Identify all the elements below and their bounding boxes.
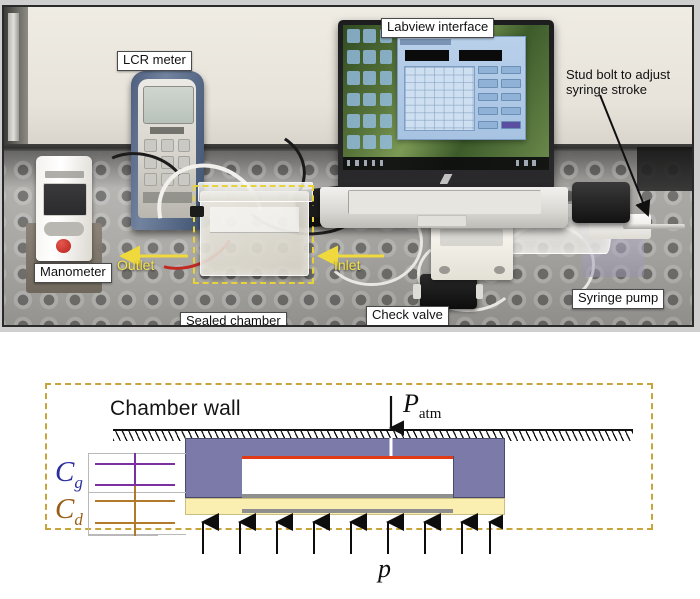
layer-top-electrode	[242, 456, 453, 459]
cg-symbol: C	[55, 456, 74, 488]
desktop-icon	[363, 50, 376, 64]
labview-control	[478, 79, 498, 87]
applied-pressure-arrows	[185, 510, 503, 560]
layer-air-gap-cavity	[242, 456, 453, 497]
desktop-icon	[347, 135, 360, 149]
clamp-slot	[440, 229, 503, 246]
cd-subscript: d	[74, 510, 83, 529]
desktop-icon	[363, 29, 376, 43]
laptop-trackpad	[417, 215, 467, 227]
label-stud-bolt: Stud bolt to adjust syringe stroke	[561, 67, 694, 99]
syringe-pump-clamp	[431, 223, 514, 280]
patm-symbol: P	[403, 389, 419, 418]
sensor-cross-section-diagram: Chamber wall Cg Cd Patm	[0, 332, 700, 599]
capacitor-lead-line	[88, 535, 158, 536]
taskbar-icon	[532, 160, 535, 167]
capacitor-lead-line	[88, 492, 186, 493]
desktop-icon	[347, 114, 360, 128]
photo-frame: LCR meter Labview interface Stud bolt to…	[2, 5, 694, 327]
labview-control-column	[478, 66, 498, 129]
sealed-chamber-highlight-box	[193, 185, 313, 284]
labview-data-table	[404, 66, 475, 131]
capacitance-dielectric-label: Cd	[55, 495, 83, 528]
label-sealed-chamber: Sealed chamber	[180, 312, 287, 327]
desktop-icon	[347, 29, 360, 43]
lcr-key	[178, 139, 191, 152]
lcr-meter-display	[143, 86, 194, 124]
cd-capacitor-stem	[134, 502, 136, 522]
labview-control	[501, 66, 521, 74]
windows-taskbar	[343, 157, 549, 170]
layer-side-wall-right	[453, 456, 505, 498]
taskbar-icon	[372, 160, 375, 167]
laptop-lid	[338, 20, 555, 189]
manometer-button-row	[44, 222, 85, 237]
lcr-key	[144, 139, 157, 152]
manometer-power-button	[56, 239, 71, 253]
taskbar-icon	[516, 160, 519, 167]
cd-capacitor-stem	[134, 486, 136, 500]
label-outlet: Outlet	[117, 257, 154, 273]
desktop-icon	[380, 135, 393, 149]
hp-logo	[440, 174, 453, 184]
desktop-icon	[347, 50, 360, 64]
label-inlet: Inlet	[334, 257, 360, 273]
taskbar-icon	[347, 160, 350, 167]
taskbar-icon	[355, 160, 358, 167]
layer-side-wall-left	[185, 456, 244, 498]
chamber-outlet-port	[190, 206, 204, 217]
experimental-setup-photo-panel: LCR meter Labview interface Stud bolt to…	[0, 0, 700, 332]
label-check-valve: Check valve	[366, 306, 449, 326]
desktop-icon	[347, 71, 360, 85]
cg-capacitor-stem	[134, 453, 136, 463]
taskbar-icon	[364, 160, 367, 167]
lcr-key	[161, 139, 174, 152]
desktop-icon	[363, 93, 376, 107]
manometer-device	[36, 156, 92, 261]
desktop-icon	[347, 93, 360, 107]
cg-subscript: g	[74, 473, 83, 492]
labview-control	[501, 79, 521, 87]
patm-subscript: atm	[419, 406, 442, 422]
label-manometer: Manometer	[34, 263, 112, 283]
labview-control	[501, 93, 521, 101]
label-lcr-meter: LCR meter	[117, 51, 192, 71]
capacitance-gap-label: Cg	[55, 458, 83, 491]
labview-readout-field	[459, 50, 502, 61]
lcr-meter-logo	[150, 127, 184, 134]
applied-pressure-label: p	[378, 554, 391, 584]
labview-titlebar	[400, 39, 451, 45]
labview-control	[501, 121, 521, 129]
labview-control	[501, 107, 521, 115]
label-syringe-pump: Syringe pump	[572, 289, 664, 309]
labview-control	[478, 107, 498, 115]
clamp-bolt	[439, 266, 450, 274]
atmospheric-pressure-arrow	[378, 394, 404, 460]
laptop-screen	[343, 25, 549, 170]
labview-control	[478, 121, 498, 129]
capacitor-lead-line	[88, 453, 186, 454]
labview-control-column	[501, 66, 521, 129]
cg-capacitor-stem	[134, 465, 136, 484]
taskbar-icon	[380, 160, 383, 167]
desktop-icon	[363, 135, 376, 149]
desktop-icon	[363, 114, 376, 128]
desktop-icon	[380, 71, 393, 85]
taskbar-icon	[524, 160, 527, 167]
manometer-display	[43, 183, 87, 216]
desktop-icon	[380, 114, 393, 128]
cd-symbol: C	[55, 493, 74, 525]
labview-control	[478, 66, 498, 74]
layer-top-plate	[185, 438, 505, 458]
manometer-brand-mark	[45, 171, 84, 178]
labview-readout-field	[405, 50, 448, 61]
desktop-icon	[363, 71, 376, 85]
labview-window	[397, 36, 527, 139]
desktop-icon	[380, 50, 393, 64]
desktop-icon	[380, 93, 393, 107]
laptop-keyboard	[348, 190, 541, 214]
stud-bolt-pointer-arrow	[596, 91, 666, 231]
labview-control	[478, 93, 498, 101]
cd-capacitor-stem	[134, 524, 136, 536]
atmospheric-pressure-label: Patm	[403, 389, 441, 423]
chamber-wall-label: Chamber wall	[110, 397, 241, 421]
clamp-bolt	[494, 266, 505, 274]
label-labview-interface: Labview interface	[381, 18, 494, 38]
desktop-icon-grid	[347, 29, 392, 154]
wall-rail	[8, 13, 19, 140]
